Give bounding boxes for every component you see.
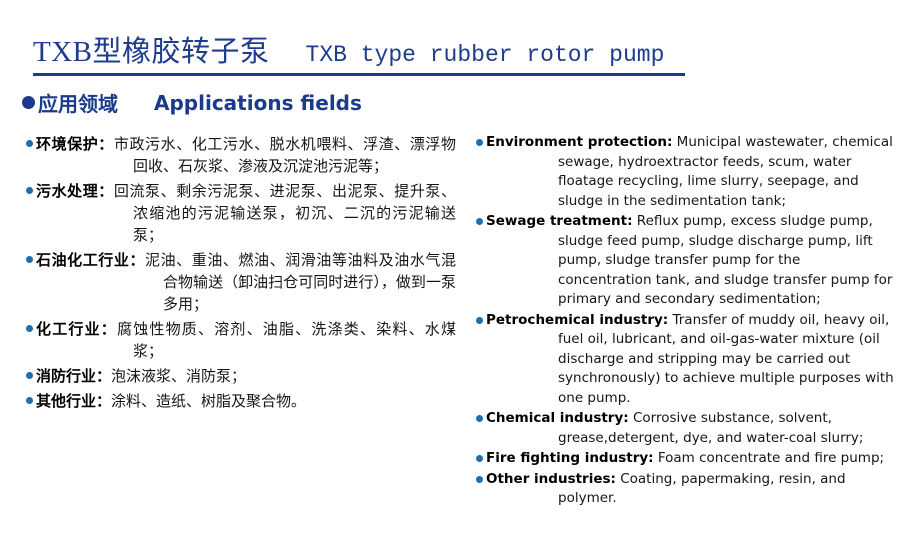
- bullet-icon: [476, 317, 483, 324]
- bullet-icon: [26, 256, 33, 263]
- list-item-text: 回流泵、剩余污泥泵、进泥泵、出泥泵、提升泵、浓缩池的污泥输送泵，初沉、二沉的污泥…: [114, 182, 456, 244]
- list-item-body: 环境保护：市政污水、化工污水、脱水机喂料、浮渣、漂浮物回收、石灰浆、渗液及沉淀池…: [36, 133, 456, 177]
- bullet-icon: [26, 140, 33, 147]
- en-item-4-body: Fire fighting industry: Foam concentrate…: [486, 449, 896, 469]
- page-title-english: TXB type rubber rotor pump: [306, 42, 665, 68]
- list-item-label: 其他行业：: [36, 392, 111, 410]
- list-item: 环境保护：市政污水、化工污水、脱水机喂料、浮渣、漂浮物回收、石灰浆、渗液及沉淀池…: [26, 133, 456, 177]
- list-item: Sewage treatment: Reflux pump, excess sl…: [476, 212, 896, 310]
- list-item-label: 化工行业：: [36, 320, 117, 338]
- bullet-icon: [26, 187, 33, 194]
- cn-item-1-para: 污水处理：回流泵、剩余污泥泵、进泥泵、出泥泵、提升泵、浓缩池的污泥输送泵，初沉、…: [36, 180, 456, 246]
- cn-item-3-para: 化工行业：腐蚀性物质、溶剂、油脂、洗涤类、染料、水煤浆；: [36, 318, 456, 362]
- bullet-icon: [26, 397, 33, 404]
- list-item: 化工行业：腐蚀性物质、溶剂、油脂、洗涤类、染料、水煤浆；: [26, 318, 456, 362]
- en-item-5-body: Other industries: Coating, papermaking, …: [486, 470, 896, 509]
- list-item-text: 市政污水、化工污水、脱水机喂料、浮渣、漂浮物回收、石灰浆、渗液及沉淀池污泥等；: [114, 135, 456, 175]
- section-heading-english: Applications fields: [154, 91, 362, 115]
- list-item-label: 环境保护：: [36, 135, 114, 153]
- bullet-icon: [476, 218, 483, 225]
- list-item: Environment protection: Municipal wastew…: [476, 133, 896, 211]
- en-item-2-body: Petrochemical industry: Transfer of mudd…: [486, 311, 896, 409]
- list-item: 污水处理：回流泵、剩余污泥泵、进泥泵、出泥泵、提升泵、浓缩池的污泥输送泵，初沉、…: [26, 180, 456, 246]
- list-item-text: 泥油、重油、燃油、润滑油等油料及油水气混合物输送（卸油扫仓可同时进行），做到一泵…: [145, 251, 456, 313]
- bullet-icon: [476, 476, 483, 483]
- list-item-text: 泡沫液浆、消防泵；: [111, 367, 246, 385]
- list-item-label: Other industries:: [486, 471, 616, 487]
- list-item: Chemical industry: Corrosive substance, …: [476, 409, 896, 448]
- cn-item-4-para: 消防行业：泡沫液浆、消防泵；: [36, 365, 456, 387]
- en-item-1-body: Sewage treatment: Reflux pump, excess sl…: [486, 212, 896, 310]
- list-item-body: 石油化工行业：泥油、重油、燃油、润滑油等油料及油水气混合物输送（卸油扫仓可同时进…: [36, 249, 456, 315]
- list-item-body: 化工行业：腐蚀性物质、溶剂、油脂、洗涤类、染料、水煤浆；: [36, 318, 456, 362]
- cn-item-0-para: 环境保护：市政污水、化工污水、脱水机喂料、浮渣、漂浮物回收、石灰浆、渗液及沉淀池…: [36, 133, 456, 177]
- list-item-label: Petrochemical industry:: [486, 312, 668, 328]
- bullet-icon: [26, 325, 33, 332]
- page-title-banner: TXB型橡胶转子泵 TXB type rubber rotor pump: [33, 28, 685, 76]
- bullet-icon: [476, 455, 483, 462]
- list-item-text: 涂料、造纸、树脂及聚合物。: [111, 392, 306, 410]
- en-item-0-body: Environment protection: Municipal wastew…: [486, 133, 896, 211]
- applications-list-chinese: 环境保护：市政污水、化工污水、脱水机喂料、浮渣、漂浮物回收、石灰浆、渗液及沉淀池…: [26, 133, 456, 415]
- list-item-label: Fire fighting industry:: [486, 450, 654, 466]
- page-title-chinese: TXB型橡胶转子泵: [33, 28, 270, 70]
- list-item-label: Environment protection:: [486, 134, 672, 150]
- list-item-label: Sewage treatment:: [486, 213, 633, 229]
- list-item: 其他行业：涂料、造纸、树脂及聚合物。: [26, 390, 456, 412]
- list-item-label: 石油化工行业：: [36, 251, 145, 269]
- applications-list-english: Environment protection: Municipal wastew…: [476, 133, 896, 510]
- list-item-label: 消防行业：: [36, 367, 111, 385]
- list-item-text: 腐蚀性物质、溶剂、油脂、洗涤类、染料、水煤浆；: [117, 320, 456, 360]
- list-item: Petrochemical industry: Transfer of mudd…: [476, 311, 896, 409]
- list-item: 石油化工行业：泥油、重油、燃油、润滑油等油料及油水气混合物输送（卸油扫仓可同时进…: [26, 249, 456, 315]
- cn-item-5-para: 其他行业：涂料、造纸、树脂及聚合物。: [36, 390, 456, 412]
- list-item-label: 污水处理：: [36, 182, 114, 200]
- list-item: Other industries: Coating, papermaking, …: [476, 470, 896, 509]
- cn-item-2-para: 石油化工行业：泥油、重油、燃油、润滑油等油料及油水气混合物输送（卸油扫仓可同时进…: [36, 249, 456, 315]
- bullet-icon: [476, 415, 483, 422]
- list-item-label: Chemical industry:: [486, 410, 629, 426]
- section-heading-chinese: 应用领域: [38, 88, 118, 117]
- list-item: Fire fighting industry: Foam concentrate…: [476, 449, 896, 469]
- bullet-icon: [26, 372, 33, 379]
- bullet-icon: [476, 139, 483, 146]
- section-heading: 应用领域 Applications fields: [22, 88, 362, 117]
- en-item-3-body: Chemical industry: Corrosive substance, …: [486, 409, 896, 448]
- list-item-body: 污水处理：回流泵、剩余污泥泵、进泥泵、出泥泵、提升泵、浓缩池的污泥输送泵，初沉、…: [36, 180, 456, 246]
- list-item: 消防行业：泡沫液浆、消防泵；: [26, 365, 456, 387]
- list-item-body: 消防行业：泡沫液浆、消防泵；: [36, 365, 456, 387]
- list-item-body: 其他行业：涂料、造纸、树脂及聚合物。: [36, 390, 456, 412]
- list-item-text: Foam concentrate and fire pump;: [654, 450, 885, 466]
- bullet-icon: [22, 96, 35, 109]
